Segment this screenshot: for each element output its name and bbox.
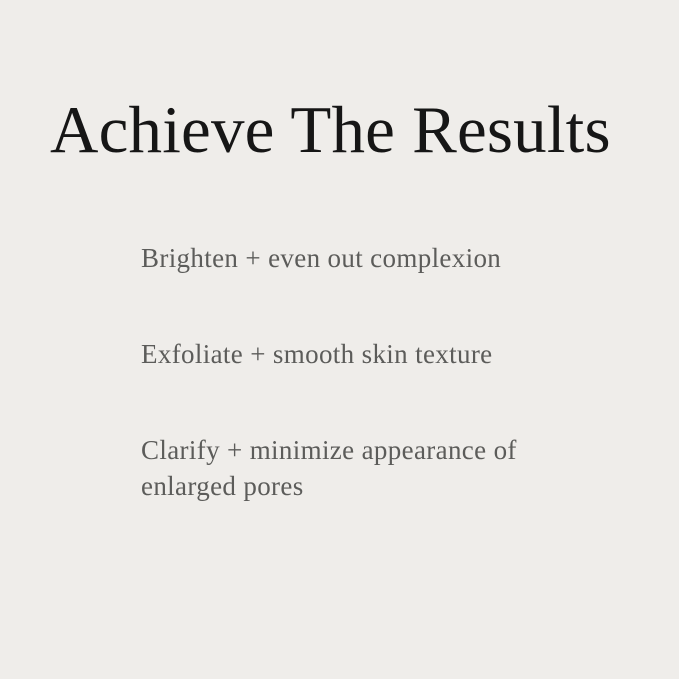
benefit-item-exfoliate: Exfoliate + smooth skin texture — [141, 336, 571, 372]
benefits-list: Brighten + even out complexion Exfoliate… — [141, 240, 571, 504]
benefit-item-brighten: Brighten + even out complexion — [141, 240, 571, 276]
page-title: Achieve The Results — [50, 97, 650, 164]
benefit-item-clarify: Clarify + minimize appearance of enlarge… — [141, 432, 551, 504]
benefits-poster: Achieve The Results Brighten + even out … — [0, 0, 679, 679]
